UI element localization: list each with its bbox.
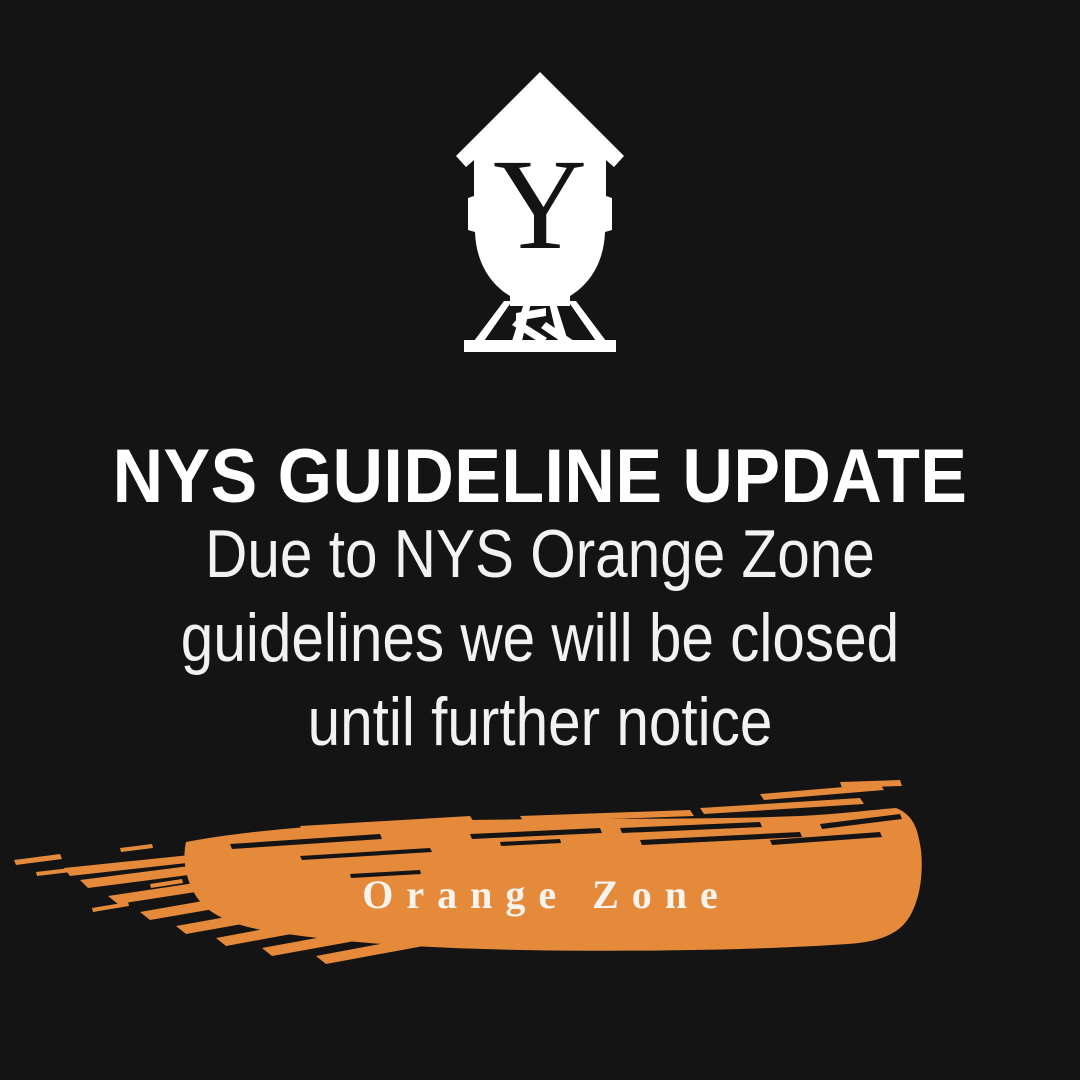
water-tower-logo: Y xyxy=(454,70,626,354)
body-line: until further notice xyxy=(76,680,1005,764)
poster-canvas: Y NYS GUIDELINE UPDATE Due to NYS Orange… xyxy=(0,0,1080,1080)
logo-monogram: Y xyxy=(493,133,587,277)
brush-stroke-icon xyxy=(0,780,1080,970)
logo-container: Y xyxy=(0,70,1080,354)
page-title: NYS GUIDELINE UPDATE xyxy=(43,439,1037,515)
body-line: guidelines we will be closed xyxy=(76,596,1005,680)
body-line: Due to NYS Orange Zone xyxy=(76,512,1005,596)
orange-zone-banner: Orange Zone xyxy=(0,780,1080,970)
announcement-body: Due to NYS Orange Zone guidelines we wil… xyxy=(0,512,1080,764)
